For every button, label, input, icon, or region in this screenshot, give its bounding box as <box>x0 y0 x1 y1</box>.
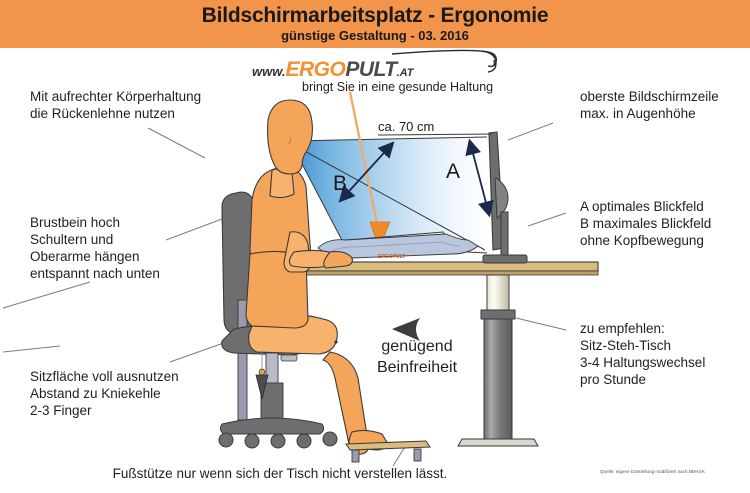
note-visual-fields: A optimales Blickfeld B maximales Blickf… <box>580 198 750 249</box>
note-sit-stand-desk: zu empfehlen: Sitz-Steh-Tisch 3-4 Haltun… <box>580 320 750 388</box>
infographic-page: Bildschirmarbeitsplatz - Ergonomie günst… <box>0 0 750 493</box>
note-seat-depth: Sitzfläche voll ausnutzen Abstand zu Kni… <box>30 368 230 419</box>
distance-label: ca. 70 cm <box>378 119 434 134</box>
note-shoulders-relaxed: Brustbein hoch Schultern und Oberarme hä… <box>30 214 220 282</box>
viewing-field-cone <box>290 137 487 253</box>
monitor <box>483 132 527 263</box>
footrest <box>346 441 430 462</box>
note-upright-posture: Mit aufrechter Körperhaltung die Rückenl… <box>30 88 245 122</box>
source-attribution: Quelle: eigene Darstellung modifiziert n… <box>600 468 745 475</box>
note-screen-height: oberste Bildschirmzeile max. in Augenhöh… <box>580 88 750 122</box>
holder-brand-text: ERGOPULT <box>378 254 405 260</box>
label-field-b: B <box>333 172 347 195</box>
note-legroom: genügend Beinfreiheit <box>352 336 482 378</box>
label-field-a: A <box>446 160 460 183</box>
note-footrest: Fußstütze nur wenn sich der Tisch nicht … <box>0 466 560 481</box>
